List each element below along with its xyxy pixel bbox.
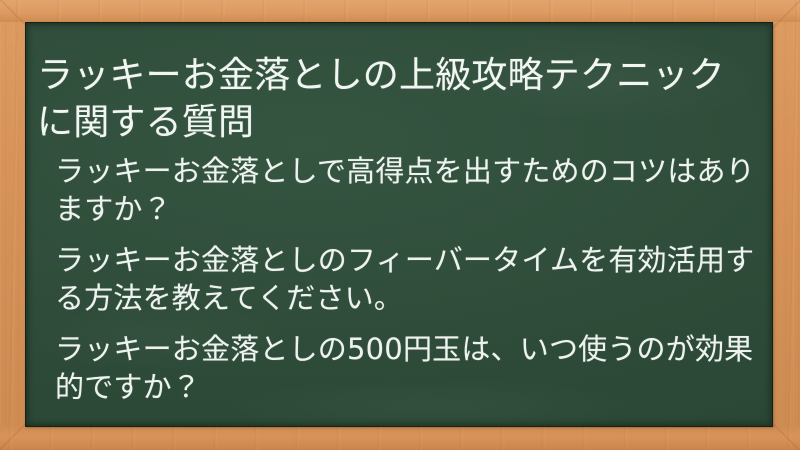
- chalkboard-screenshot: ラッキーお金落としの上級攻略テクニックに関する質問 ラッキーお金落としで高得点を…: [0, 0, 800, 450]
- frame-top-edge: [0, 0, 800, 22]
- list-item: ラッキーお金落としの500円玉は、いつ使うのが効果的ですか？: [55, 330, 755, 406]
- frame-bottom-edge: [0, 426, 800, 450]
- question-list: ラッキーお金落としで高得点を出すためのコツはありますか？ ラッキーお金落としのフ…: [55, 152, 755, 406]
- list-item: ラッキーお金落としで高得点を出すためのコツはありますか？: [55, 152, 755, 228]
- page-title: ラッキーお金落としの上級攻略テクニックに関する質問: [37, 52, 752, 146]
- chalkboard-surface: ラッキーお金落としの上級攻略テクニックに関する質問 ラッキーお金落としで高得点を…: [25, 22, 773, 427]
- list-item: ラッキーお金落としのフィーバータイムを有効活用する方法を教えてください。: [55, 241, 755, 317]
